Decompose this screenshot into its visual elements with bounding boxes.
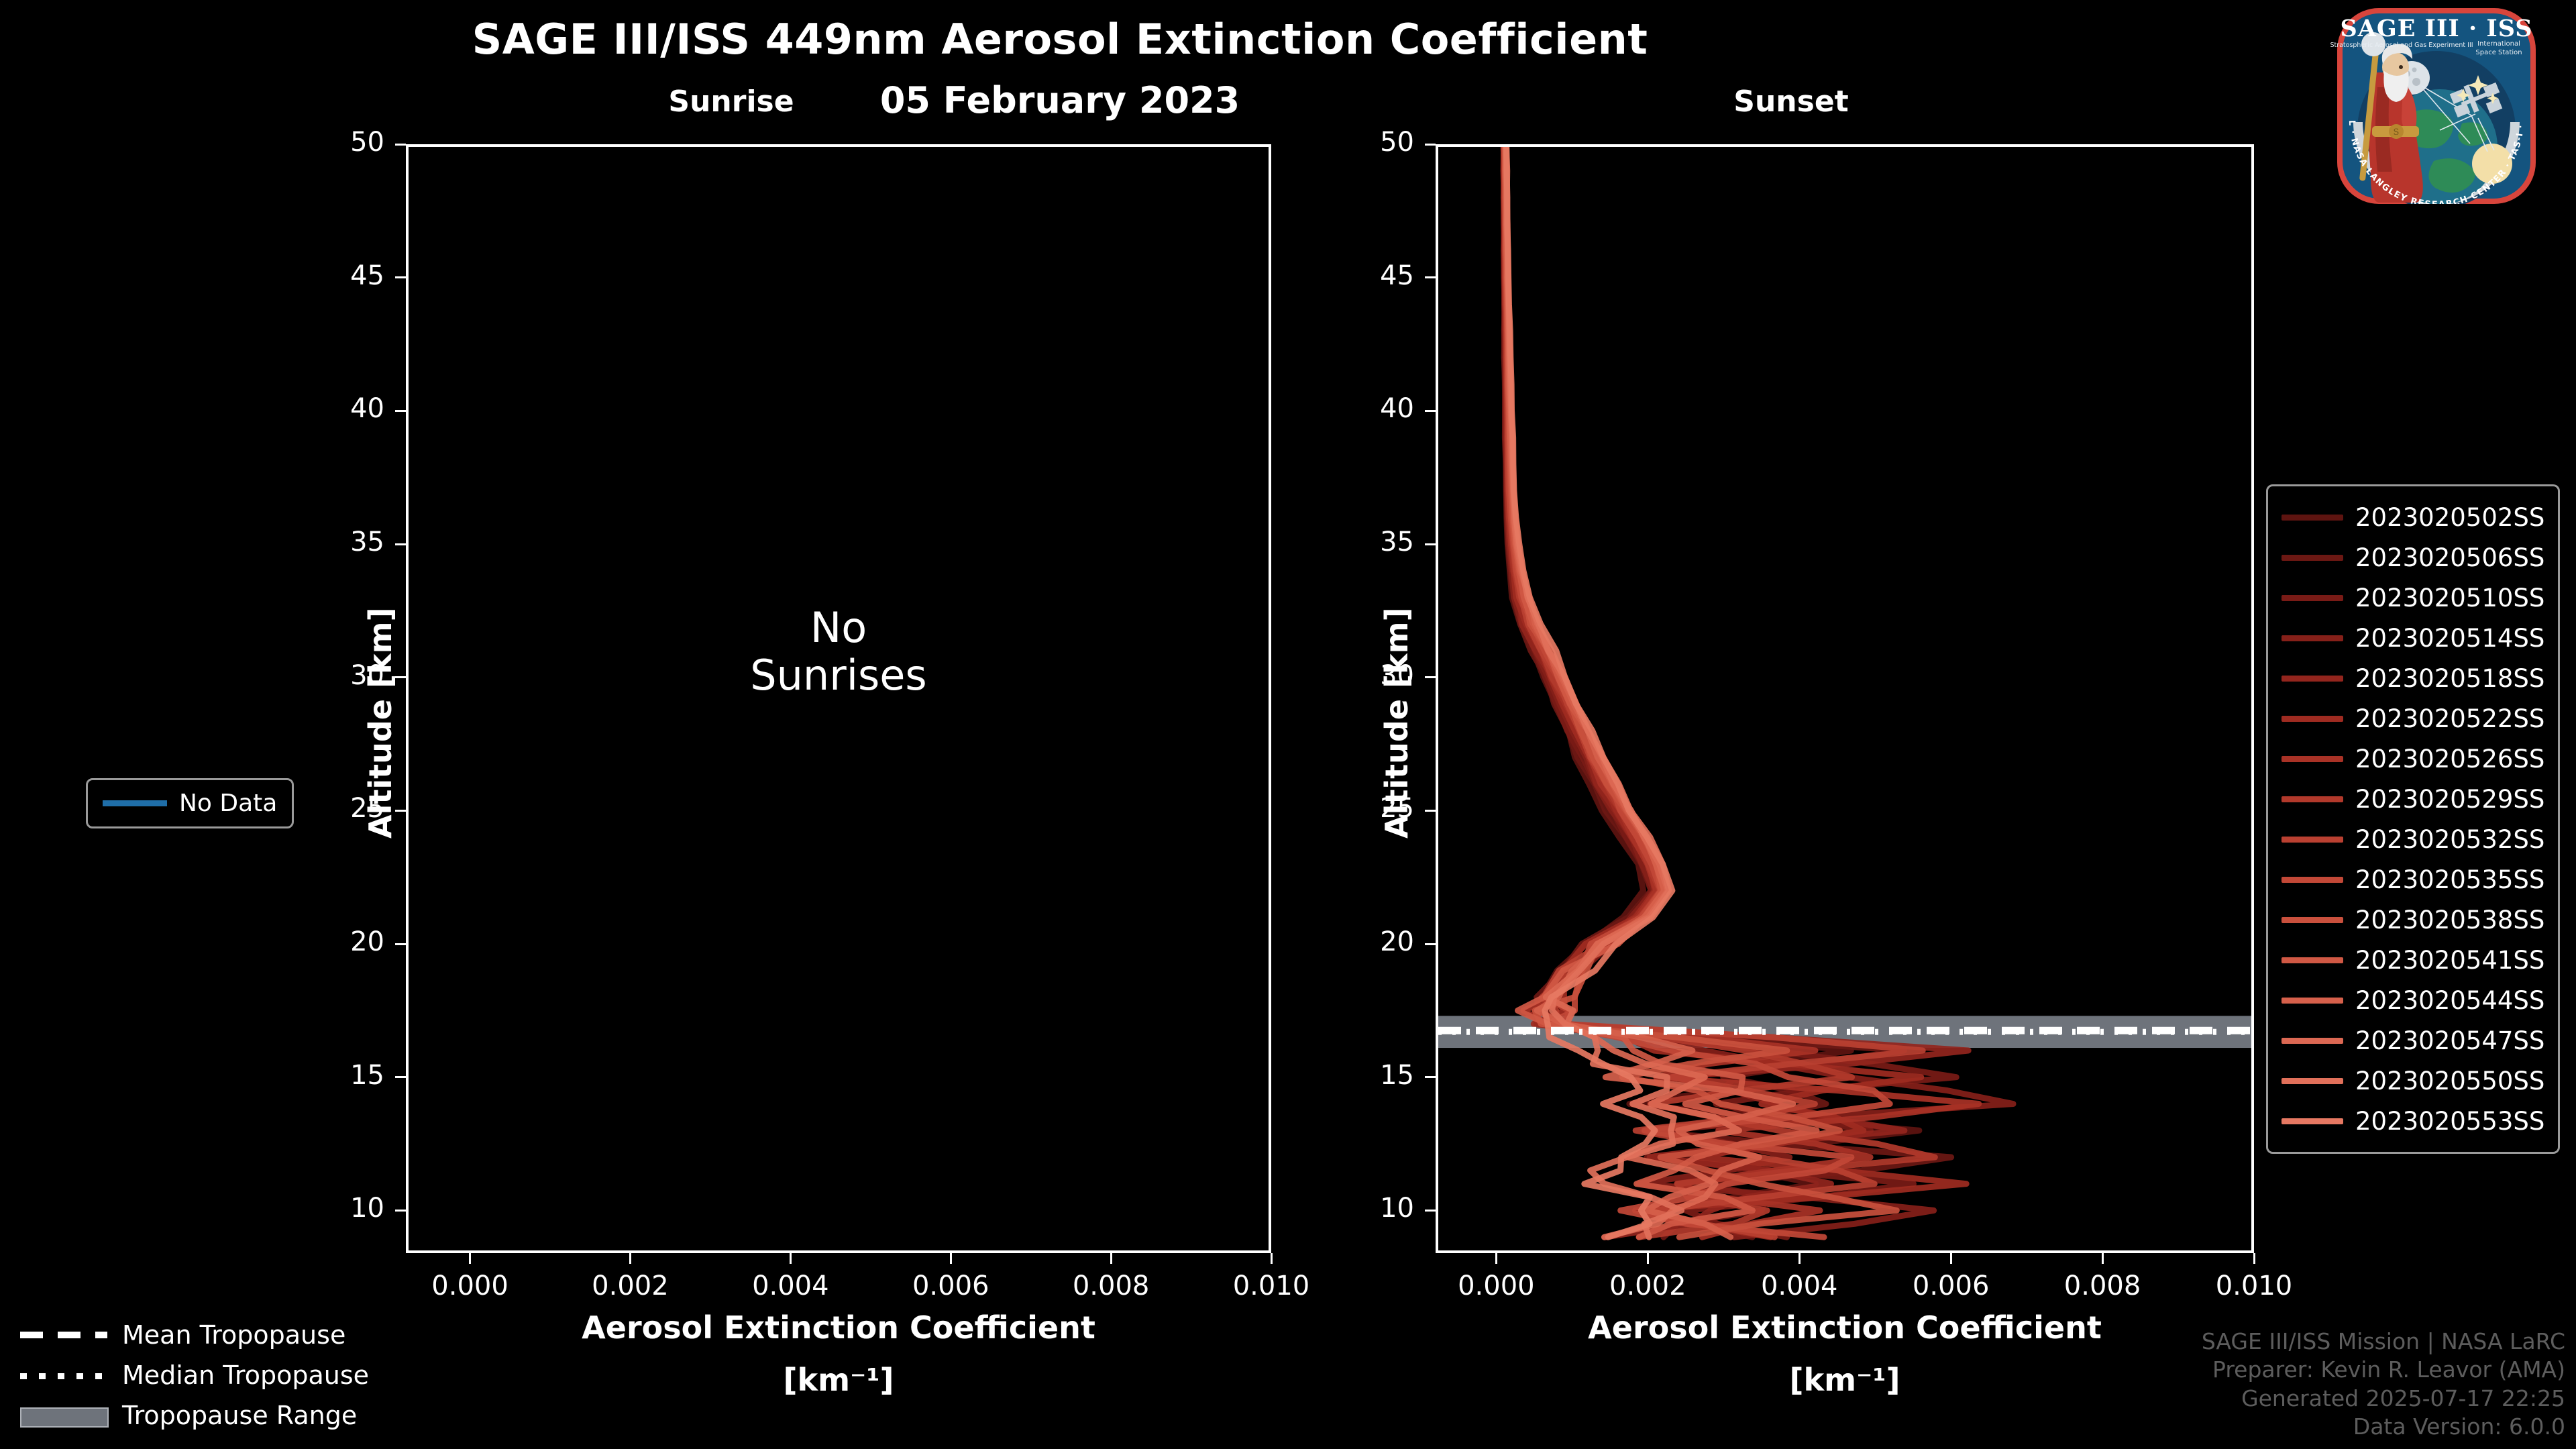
legend-entry-label: 2023020526SS [2355, 745, 2544, 773]
tropopause-key-range: Tropopause Range [20, 1395, 369, 1436]
left-xaxis-label-line1: Aerosol Extinction Coefficient [436, 1309, 1241, 1346]
legend-entry-label: 2023020535SS [2355, 865, 2544, 894]
legend-entry-7[interactable]: 2023020529SS [2282, 779, 2544, 819]
left-yaxis-label: Altitude [km] [362, 607, 398, 839]
legend-entry-11[interactable]: 2023020541SS [2282, 940, 2544, 980]
right-xtick-mark-2 [1799, 1253, 1801, 1264]
legend-entry-label: 2023020502SS [2355, 503, 2544, 532]
right-xtick-label-3: 0.006 [1884, 1271, 2018, 1301]
legend-color-swatch [2282, 1118, 2343, 1124]
legend-color-swatch [2282, 877, 2343, 883]
series-legend[interactable]: 2023020502SS2023020506SS2023020510SS2023… [2266, 484, 2560, 1154]
right-ytick-mark-4 [1425, 676, 1436, 678]
credits-line-2: Preparer: Kevin R. Leavor (AMA) [2202, 1356, 2565, 1384]
legend-entry-label: 2023020544SS [2355, 986, 2544, 1015]
logo-subtitle-left: Stratospheric Aerosol and Gas Experiment… [2330, 42, 2473, 49]
right-ytick-mark-3 [1425, 810, 1436, 812]
right-xtick-mark-4 [2102, 1253, 2104, 1264]
legend-color-swatch [2282, 796, 2343, 802]
legend-entry-label: 2023020532SS [2355, 825, 2544, 854]
legend-color-swatch [2282, 1038, 2343, 1044]
right-ytick-label-2: 20 [1334, 926, 1414, 957]
band-swatch-icon [20, 1406, 107, 1425]
legend-entry-6[interactable]: 2023020526SS [2282, 739, 2544, 779]
legend-entry-13[interactable]: 2023020547SS [2282, 1020, 2544, 1061]
legend-color-swatch [2282, 555, 2343, 561]
right-xtick-label-1: 0.002 [1580, 1271, 1715, 1301]
page-title: SAGE III/ISS 449nm Aerosol Extinction Co… [0, 15, 2120, 64]
svg-text:S: S [2394, 127, 2400, 138]
aerosol-profile-curves [1438, 147, 2251, 1250]
right-xtick-label-4: 0.008 [2035, 1271, 2169, 1301]
legend-color-swatch [2282, 595, 2343, 601]
no-data-legend-label: No Data [179, 790, 277, 817]
credits-line-4: Data Version: 6.0.0 [2202, 1413, 2565, 1441]
right-ytick-mark-0 [1425, 1210, 1436, 1212]
right-ytick-label-6: 40 [1334, 393, 1414, 424]
left-xtick-mark-0 [469, 1253, 471, 1264]
logo-subtitle-right-1: International [2477, 40, 2520, 48]
left-xtick-label-2: 0.004 [723, 1271, 857, 1301]
legend-entry-9[interactable]: 2023020535SS [2282, 859, 2544, 900]
right-xaxis-label-line2: [km⁻¹] [1442, 1362, 2247, 1398]
legend-entry-2[interactable]: 2023020510SS [2282, 578, 2544, 618]
left-ytick-label-2: 20 [304, 926, 384, 957]
sunrise-panel-label: Sunrise [577, 85, 885, 119]
right-xtick-label-2: 0.004 [1732, 1271, 1866, 1301]
right-yaxis-label: Altitude [km] [1379, 607, 1415, 839]
mean-tropopause-label: Mean Tropopause [122, 1320, 345, 1350]
right-xtick-mark-3 [1950, 1253, 1952, 1264]
right-ytick-label-0: 10 [1334, 1193, 1414, 1224]
legend-entry-8[interactable]: 2023020532SS [2282, 819, 2544, 859]
left-xtick-label-4: 0.008 [1044, 1271, 1178, 1301]
right-xtick-mark-1 [1647, 1253, 1649, 1264]
legend-color-swatch [2282, 676, 2343, 682]
left-xtick-label-5: 0.010 [1204, 1271, 1338, 1301]
legend-color-swatch [2282, 515, 2343, 521]
legend-entry-5[interactable]: 2023020522SS [2282, 698, 2544, 739]
legend-color-swatch [2282, 635, 2343, 641]
tropopause-key-median: Median Tropopause [20, 1355, 369, 1395]
left-ytick-mark-1 [395, 1076, 406, 1078]
credits-line-3: Generated 2025-07-17 22:25 [2202, 1385, 2565, 1413]
right-ytick-label-8: 50 [1334, 127, 1414, 158]
legend-color-swatch [2282, 957, 2343, 963]
no-sunrises-line1: No [406, 604, 1271, 651]
left-ytick-label-1: 15 [304, 1060, 384, 1091]
left-xaxis-label-line2: [km⁻¹] [436, 1362, 1241, 1398]
sage-iii-iss-mission-logo: S SAGE III · ISS Stratospheric Aerosol a… [2302, 3, 2571, 204]
right-ytick-mark-1 [1425, 1076, 1436, 1078]
legend-entry-label: 2023020510SS [2355, 584, 2544, 612]
left-xtick-mark-5 [1271, 1253, 1273, 1264]
dotted-line-icon [20, 1366, 107, 1385]
left-ytick-mark-8 [395, 144, 406, 146]
right-xtick-label-0: 0.000 [1429, 1271, 1563, 1301]
right-xtick-mark-0 [1495, 1253, 1497, 1264]
credits-line-1: SAGE III/ISS Mission | NASA LaRC [2202, 1328, 2565, 1356]
left-ytick-label-8: 50 [304, 127, 384, 158]
right-ytick-label-7: 45 [1334, 260, 1414, 291]
legend-entry-label: 2023020518SS [2355, 664, 2544, 693]
dashed-line-icon [20, 1326, 107, 1344]
legend-entry-label: 2023020529SS [2355, 785, 2544, 814]
left-xtick-label-3: 0.006 [883, 1271, 1018, 1301]
legend-entry-label: 2023020514SS [2355, 624, 2544, 653]
legend-entry-15[interactable]: 2023020553SS [2282, 1101, 2544, 1141]
legend-entry-0[interactable]: 2023020502SS [2282, 497, 2544, 537]
right-ytick-mark-2 [1425, 943, 1436, 945]
left-ytick-label-7: 45 [304, 260, 384, 291]
svg-text:SAGE III · ISS: SAGE III · ISS [2340, 15, 2532, 42]
legend-color-swatch [2282, 756, 2343, 762]
logo-subtitle-right-2: Space Station [2475, 49, 2522, 56]
legend-color-swatch [2282, 998, 2343, 1004]
right-ytick-mark-8 [1425, 144, 1436, 146]
tropopause-range-label: Tropopause Range [122, 1401, 357, 1430]
right-xtick-label-5: 0.010 [2187, 1271, 2321, 1301]
legend-entry-label: 2023020550SS [2355, 1067, 2544, 1095]
left-ytick-mark-5 [395, 543, 406, 545]
left-ytick-mark-0 [395, 1210, 406, 1212]
tropopause-key-mean: Mean Tropopause [20, 1315, 369, 1355]
legend-entry-label: 2023020547SS [2355, 1026, 2544, 1055]
median-tropopause-label: Median Tropopause [122, 1360, 369, 1390]
right-xtick-mark-5 [2253, 1253, 2255, 1264]
left-ytick-label-6: 40 [304, 393, 384, 424]
legend-color-swatch [2282, 837, 2343, 843]
left-ytick-mark-2 [395, 943, 406, 945]
legend-entry-14[interactable]: 2023020550SS [2282, 1061, 2544, 1101]
left-ytick-label-0: 10 [304, 1193, 384, 1224]
legend-entry-10[interactable]: 2023020538SS [2282, 900, 2544, 940]
legend-color-swatch [2282, 716, 2343, 722]
profile-line-14 [1506, 147, 1681, 1237]
right-ytick-mark-5 [1425, 543, 1436, 545]
legend-entry-label: 2023020553SS [2355, 1107, 2544, 1136]
legend-color-swatch [2282, 1078, 2343, 1084]
no-sunrises-message: No Sunrises [406, 604, 1271, 700]
legend-entry-label: 2023020538SS [2355, 906, 2544, 934]
no-data-line-swatch [103, 800, 167, 806]
left-ytick-mark-7 [395, 276, 406, 278]
no-sunrises-line2: Sunrises [406, 651, 1271, 699]
left-xtick-mark-3 [950, 1253, 952, 1264]
left-ytick-mark-6 [395, 410, 406, 412]
sunset-panel-label: Sunset [1637, 85, 1945, 119]
tropopause-key: Mean Tropopause Median Tropopause Tropop… [20, 1315, 369, 1436]
left-xtick-mark-4 [1110, 1253, 1112, 1264]
legend-entry-12[interactable]: 2023020544SS [2282, 980, 2544, 1020]
left-xtick-mark-2 [790, 1253, 792, 1264]
legend-entry-4[interactable]: 2023020518SS [2282, 658, 2544, 698]
right-ytick-mark-7 [1425, 276, 1436, 278]
right-ytick-mark-6 [1425, 410, 1436, 412]
legend-entry-label: 2023020541SS [2355, 946, 2544, 975]
legend-entry-3[interactable]: 2023020514SS [2282, 618, 2544, 658]
legend-color-swatch [2282, 917, 2343, 923]
legend-entry-label: 2023020522SS [2355, 704, 2544, 733]
left-ytick-label-5: 35 [304, 527, 384, 557]
right-ytick-label-1: 15 [1334, 1060, 1414, 1091]
no-data-legend[interactable]: No Data [86, 778, 294, 828]
legend-entry-1[interactable]: 2023020506SS [2282, 537, 2544, 578]
left-xtick-label-0: 0.000 [403, 1271, 537, 1301]
left-xtick-mark-1 [629, 1253, 631, 1264]
credits-block: SAGE III/ISS Mission | NASA LaRC Prepare… [2202, 1328, 2565, 1441]
legend-entry-label: 2023020506SS [2355, 543, 2544, 572]
left-xtick-label-1: 0.002 [563, 1271, 697, 1301]
right-ytick-label-5: 35 [1334, 527, 1414, 557]
right-xaxis-label-line1: Aerosol Extinction Coefficient [1442, 1309, 2247, 1346]
